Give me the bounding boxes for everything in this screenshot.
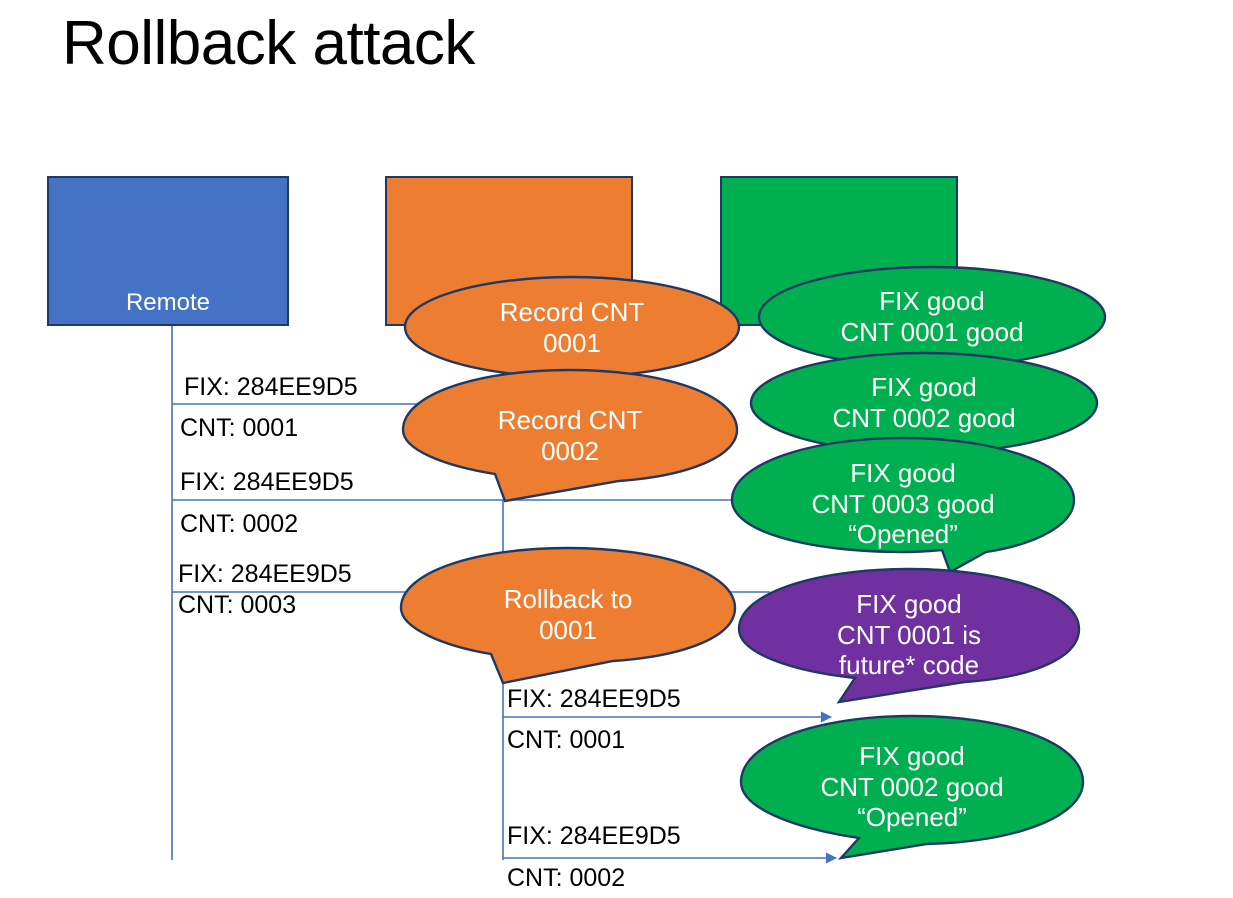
message-cnt-m2: CNT: 0002 [180,510,298,539]
message-cnt-m1: CNT: 0001 [180,414,298,443]
slide-canvas: Rollback attack Remote Flipper Zero Rece… [0,0,1233,898]
message-fix-m4: FIX: 284EE9D5 [507,685,681,714]
callout-line: CNT 0001 is [811,620,1007,651]
message-fix-m1: FIX: 284EE9D5 [184,373,358,402]
message-fix-m3: FIX: 284EE9D5 [178,560,352,589]
callout-line: 0001 [517,328,627,359]
callout-cnt-0002-good-opened[interactable]: FIX good CNT 0002 good “Opened” [737,712,1087,862]
callout-line: 0001 [513,615,623,646]
callout-line: Record CNT [474,297,670,328]
message-fix-m5: FIX: 284EE9D5 [507,822,681,851]
callout-line: FIX good [830,589,988,620]
callout-cnt-0003-good-opened[interactable]: FIX good CNT 0003 good “Opened” [728,434,1078,574]
callout-line: “Opened” [822,519,984,550]
callout-line: Record CNT [472,405,668,436]
callout-line: CNT 0001 good [814,317,1049,348]
callout-line: CNT 0003 good [785,489,1020,520]
callout-line: 0002 [515,436,625,467]
callout-line: FIX good [853,286,1011,317]
callout-line: FIX good [824,458,982,489]
callout-line: CNT 0002 good [806,403,1041,434]
actor-label-remote: Remote [126,290,210,316]
callout-line: future* code [813,650,1005,681]
message-fix-m2: FIX: 284EE9D5 [180,468,354,497]
callout-line: FIX good [845,372,1003,403]
message-cnt-m4: CNT: 0001 [507,726,625,755]
actor-box-remote[interactable]: Remote [47,176,289,326]
callout-record-0002[interactable]: Record CNT 0002 [401,366,739,506]
message-cnt-m3: CNT: 0003 [178,591,296,620]
message-cnt-m5: CNT: 0002 [507,864,625,893]
callout-rollback-0001[interactable]: Rollback to 0001 [399,544,737,686]
callout-line: Rollback to [478,584,659,615]
callout-line: CNT 0002 good [794,772,1029,803]
callout-cnt-0001-future[interactable]: FIX good CNT 0001 is future* code [735,565,1083,705]
callout-record-0001[interactable]: Record CNT 0001 [403,275,741,380]
callout-line: FIX good [833,741,991,772]
callout-line: “Opened” [831,802,993,833]
